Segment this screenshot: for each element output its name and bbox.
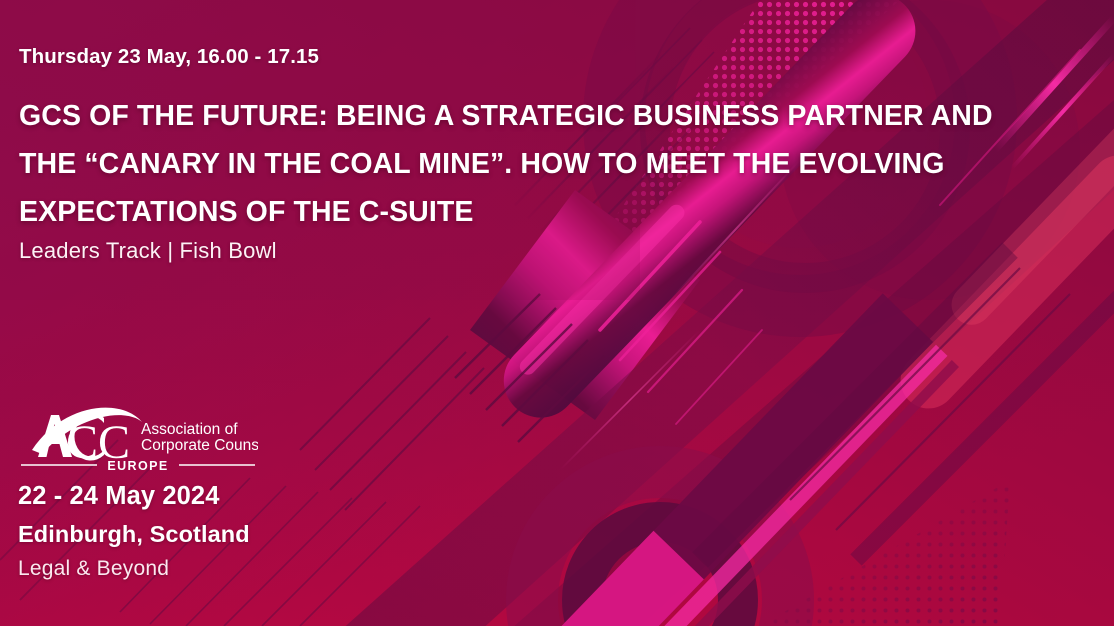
session-datetime: Thursday 23 May, 16.00 - 17.15	[19, 45, 319, 69]
session-track: Leaders Track | Fish Bowl	[19, 238, 277, 264]
event-location: Edinburgh, Scotland	[18, 521, 250, 548]
event-tagline: Legal & Beyond	[18, 557, 169, 581]
session-banner: Thursday 23 May, 16.00 - 17.15 GCS of th…	[0, 0, 1114, 626]
banner-content: Thursday 23 May, 16.00 - 17.15 GCS of th…	[0, 0, 1114, 626]
session-title: GCS of the Future: Being a Strategic Bus…	[19, 92, 1004, 236]
acc-org-line-2: Corporate Counsel	[141, 437, 258, 454]
acc-org-line-1: Association of	[141, 421, 238, 438]
acc-logo-mark: CC Association of Corporate Counsel EURO…	[18, 404, 258, 478]
event-dates: 22 - 24 May 2024	[18, 482, 220, 511]
acc-europe-logo: CC Association of Corporate Counsel EURO…	[18, 404, 258, 478]
acc-region: EUROPE	[107, 459, 168, 473]
